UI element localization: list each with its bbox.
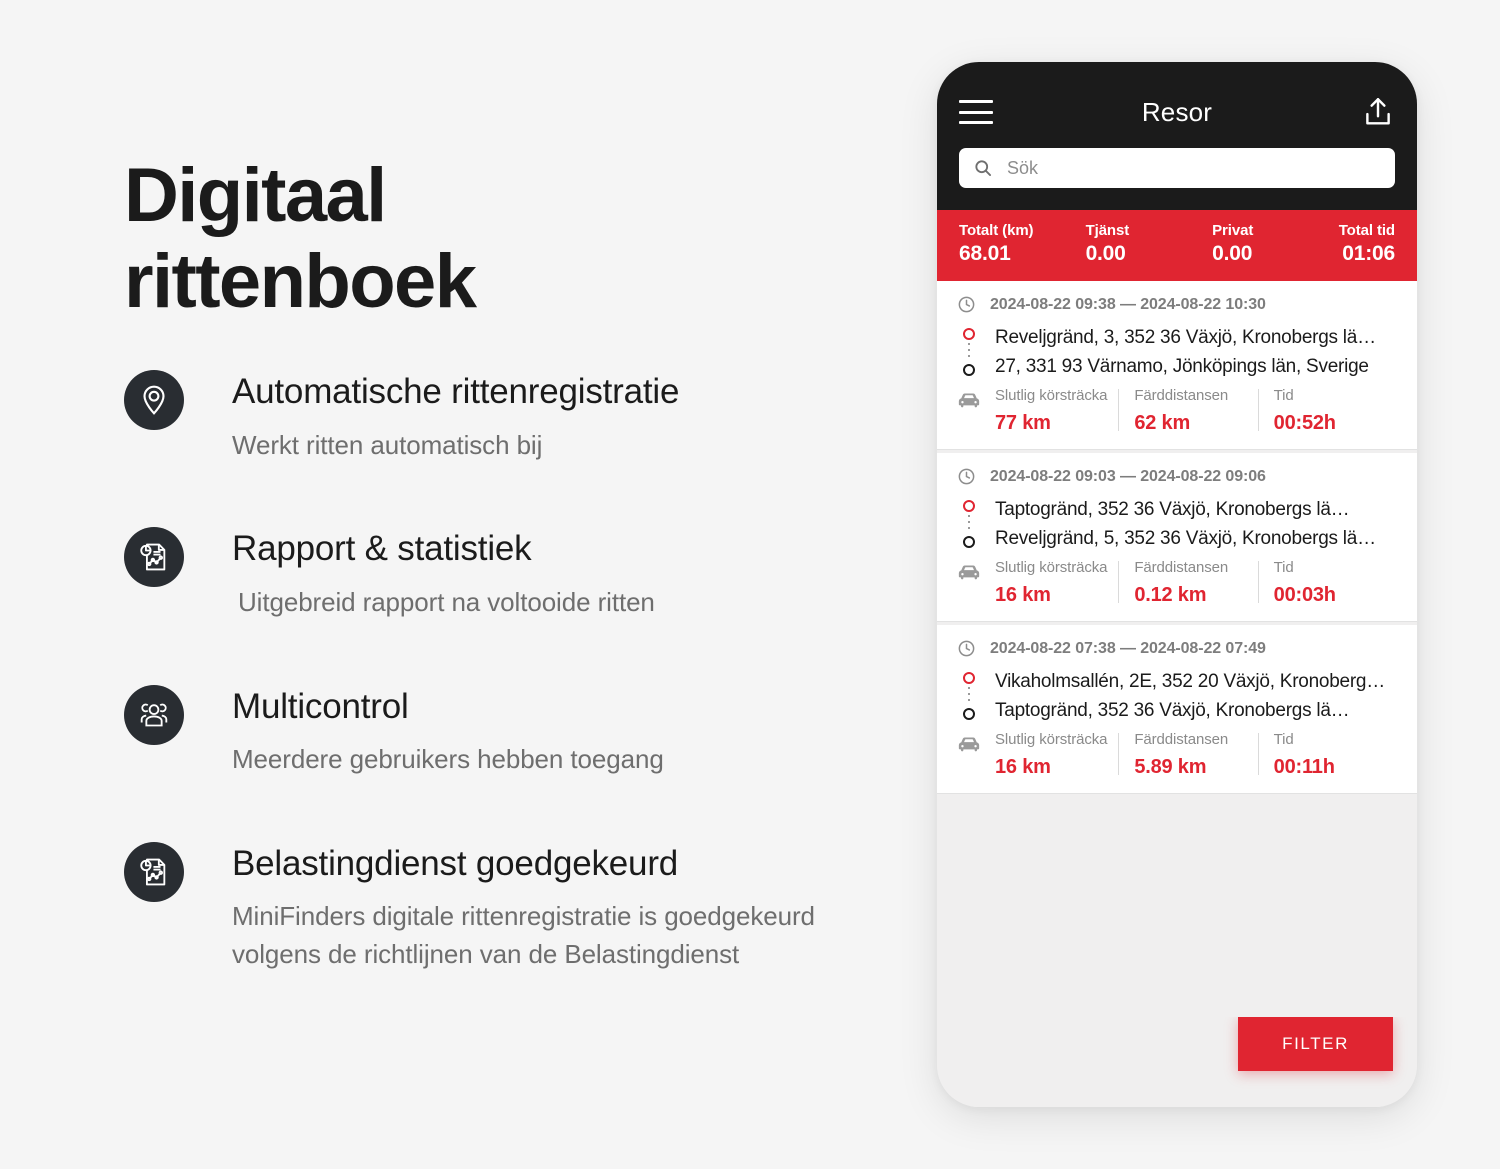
clock-icon (957, 639, 976, 658)
metric-label: Slutlig körsträcka (995, 731, 1110, 748)
stat-value: 0.00 (1212, 242, 1339, 266)
route-dotted-line (968, 343, 970, 361)
metric-tid: Tid 00:03h (1258, 559, 1397, 607)
feature-title: Belastingdienst goedgekeurd (232, 844, 914, 885)
metric-value: 16 km (995, 756, 1110, 779)
trip-time-range: 2024-08-22 07:38 — 2024-08-22 07:49 (990, 640, 1266, 658)
feature-item-automatische-rittenregistratie: Automatische rittenregistratie Werkt rit… (124, 370, 914, 464)
metric-label: Slutlig körsträcka (995, 387, 1110, 404)
trip-route: Reveljgränd, 3, 352 36 Växjö, Kronobergs… (957, 323, 1397, 381)
stat-value: 68.01 (959, 242, 1086, 266)
trip-from-address: Vikaholmsallén, 2E, 352 20 Växjö, Kronob… (995, 667, 1397, 696)
users-group-icon (124, 685, 184, 745)
trip-from-address: Reveljgränd, 3, 352 36 Växjö, Kronobergs… (995, 323, 1397, 352)
stat-label: Tjänst (1086, 222, 1213, 239)
trip-time-range: 2024-08-22 09:38 — 2024-08-22 10:30 (990, 296, 1266, 314)
stat-total-tid: Total tid 01:06 (1339, 222, 1395, 266)
trip-route: Taptogränd, 352 36 Växjö, Kronobergs lä…… (957, 495, 1397, 553)
trip-from-address: Taptogränd, 352 36 Växjö, Kronobergs lä… (995, 495, 1397, 524)
metric-slutlig-korstracka: Slutlig körsträcka 77 km (995, 387, 1118, 435)
metric-value: 16 km (995, 584, 1110, 607)
search-bar[interactable] (959, 148, 1395, 188)
car-icon-cell (957, 731, 995, 759)
trip-to-address: Taptogränd, 352 36 Växjö, Kronobergs lä… (995, 696, 1397, 725)
trip-route: Vikaholmsallén, 2E, 352 20 Växjö, Kronob… (957, 667, 1397, 725)
metric-label: Färddistansen (1134, 559, 1249, 576)
car-icon-cell (957, 559, 995, 587)
search-icon (973, 158, 993, 178)
trip-metrics: Slutlig körsträcka 77 km Färddistansen 6… (957, 387, 1397, 435)
stat-label: Privat (1212, 222, 1339, 239)
share-upload-icon[interactable] (1361, 95, 1395, 129)
route-end-marker-icon (963, 536, 975, 548)
feature-item-belastingdienst-goedgekeurd: Belastingdienst goedgekeurd MiniFinders … (124, 842, 914, 974)
app-title: Resor (993, 97, 1361, 128)
feature-description: MiniFinders digitale rittenregistratie i… (232, 898, 872, 973)
trip-time-row: 2024-08-22 09:03 — 2024-08-22 09:06 (957, 467, 1397, 486)
feature-title: Rapport & statistiek (232, 529, 914, 570)
trip-list[interactable]: 2024-08-22 09:38 — 2024-08-22 10:30 Reve… (937, 281, 1417, 1017)
stat-privat: Privat 0.00 (1212, 222, 1339, 266)
filter-button[interactable]: FILTER (1238, 1017, 1393, 1071)
metric-slutlig-korstracka: Slutlig körsträcka 16 km (995, 731, 1118, 779)
route-start-marker-icon (963, 672, 975, 684)
metric-value: 00:52h (1274, 412, 1389, 435)
feature-title: Multicontrol (232, 687, 914, 728)
stats-summary-bar: Totalt (km) 68.01 Tjänst 0.00 Privat 0.0… (937, 210, 1417, 281)
metric-farddistansen: Färddistansen 0.12 km (1118, 559, 1257, 607)
metric-value: 0.12 km (1134, 584, 1249, 607)
trip-time-row: 2024-08-22 07:38 — 2024-08-22 07:49 (957, 639, 1397, 658)
metric-value: 00:11h (1274, 756, 1389, 779)
metric-label: Slutlig körsträcka (995, 559, 1110, 576)
feature-item-rapport-statistiek: Rapport & statistiek Uitgebreid rapport … (124, 527, 914, 621)
car-icon-cell (957, 387, 995, 415)
metric-value: 77 km (995, 412, 1110, 435)
trip-list-item[interactable]: 2024-08-22 07:38 — 2024-08-22 07:49 Vika… (937, 625, 1417, 794)
route-dotted-line (968, 515, 970, 533)
hamburger-menu-icon[interactable] (959, 100, 993, 124)
feature-list: Automatische rittenregistratie Werkt rit… (124, 370, 914, 974)
trip-list-item[interactable]: 2024-08-22 09:38 — 2024-08-22 10:30 Reve… (937, 281, 1417, 450)
route-end-marker-icon (963, 364, 975, 376)
metric-farddistansen: Färddistansen 5.89 km (1118, 731, 1257, 779)
location-pin-icon (124, 370, 184, 430)
report-chart-icon (124, 527, 184, 587)
trip-to-address: Reveljgränd, 5, 352 36 Växjö, Kronobergs… (995, 524, 1397, 553)
filter-area: FILTER (937, 1017, 1417, 1107)
clock-icon (957, 467, 976, 486)
metric-label: Färddistansen (1134, 731, 1249, 748)
trip-metrics: Slutlig körsträcka 16 km Färddistansen 0… (957, 559, 1397, 607)
stat-value: 0.00 (1086, 242, 1213, 266)
route-markers (962, 328, 980, 380)
car-icon (957, 734, 981, 754)
stat-tjanst: Tjänst 0.00 (1086, 222, 1213, 266)
search-input[interactable] (1005, 147, 1381, 189)
car-icon (957, 390, 981, 410)
stat-label: Total tid (1339, 222, 1395, 239)
metric-farddistansen: Färddistansen 62 km (1118, 387, 1257, 435)
trip-metrics: Slutlig körsträcka 16 km Färddistansen 5… (957, 731, 1397, 779)
app-topbar: Resor (959, 92, 1395, 132)
feature-description: Werkt ritten automatisch bij (232, 427, 872, 465)
page-title: Digitaal rittenboek (124, 153, 824, 325)
feature-title: Automatische rittenregistratie (232, 372, 914, 413)
metric-label: Tid (1274, 559, 1389, 576)
app-header: Resor (937, 62, 1417, 210)
metric-tid: Tid 00:52h (1258, 387, 1397, 435)
phone-screen: Resor Totalt (km) 68.01 (937, 62, 1417, 1107)
metric-value: 5.89 km (1134, 756, 1249, 779)
car-icon (957, 562, 981, 582)
phone-mockup: Resor Totalt (km) 68.01 (937, 62, 1417, 1107)
trip-to-address: 27, 331 93 Värnamo, Jönköpings län, Sver… (995, 352, 1397, 381)
metric-label: Färddistansen (1134, 387, 1249, 404)
feature-item-multicontrol: Multicontrol Meerdere gebruikers hebben … (124, 685, 914, 779)
metric-value: 62 km (1134, 412, 1249, 435)
left-content-panel: Digitaal rittenboek Automatische rittenr… (0, 0, 930, 1169)
route-end-marker-icon (963, 708, 975, 720)
route-markers (962, 500, 980, 552)
trip-time-range: 2024-08-22 09:03 — 2024-08-22 09:06 (990, 468, 1266, 486)
stat-totalt-km: Totalt (km) 68.01 (959, 222, 1086, 266)
metric-slutlig-korstracka: Slutlig körsträcka 16 km (995, 559, 1118, 607)
feature-description: Meerdere gebruikers hebben toegang (232, 741, 872, 779)
report-chart-icon (124, 842, 184, 902)
stat-value: 01:06 (1339, 242, 1395, 266)
route-start-marker-icon (963, 328, 975, 340)
headline-line-1: Digitaal (124, 153, 824, 239)
feature-description: Uitgebreid rapport na voltooide ritten (232, 584, 878, 622)
metric-label: Tid (1274, 387, 1389, 404)
clock-icon (957, 295, 976, 314)
metric-tid: Tid 00:11h (1258, 731, 1397, 779)
route-markers (962, 672, 980, 724)
headline-line-2: rittenboek (124, 239, 824, 325)
stat-label: Totalt (km) (959, 222, 1086, 239)
metric-label: Tid (1274, 731, 1389, 748)
route-start-marker-icon (963, 500, 975, 512)
trip-time-row: 2024-08-22 09:38 — 2024-08-22 10:30 (957, 295, 1397, 314)
route-dotted-line (968, 687, 970, 705)
metric-value: 00:03h (1274, 584, 1389, 607)
trip-list-item[interactable]: 2024-08-22 09:03 — 2024-08-22 09:06 Tapt… (937, 453, 1417, 622)
